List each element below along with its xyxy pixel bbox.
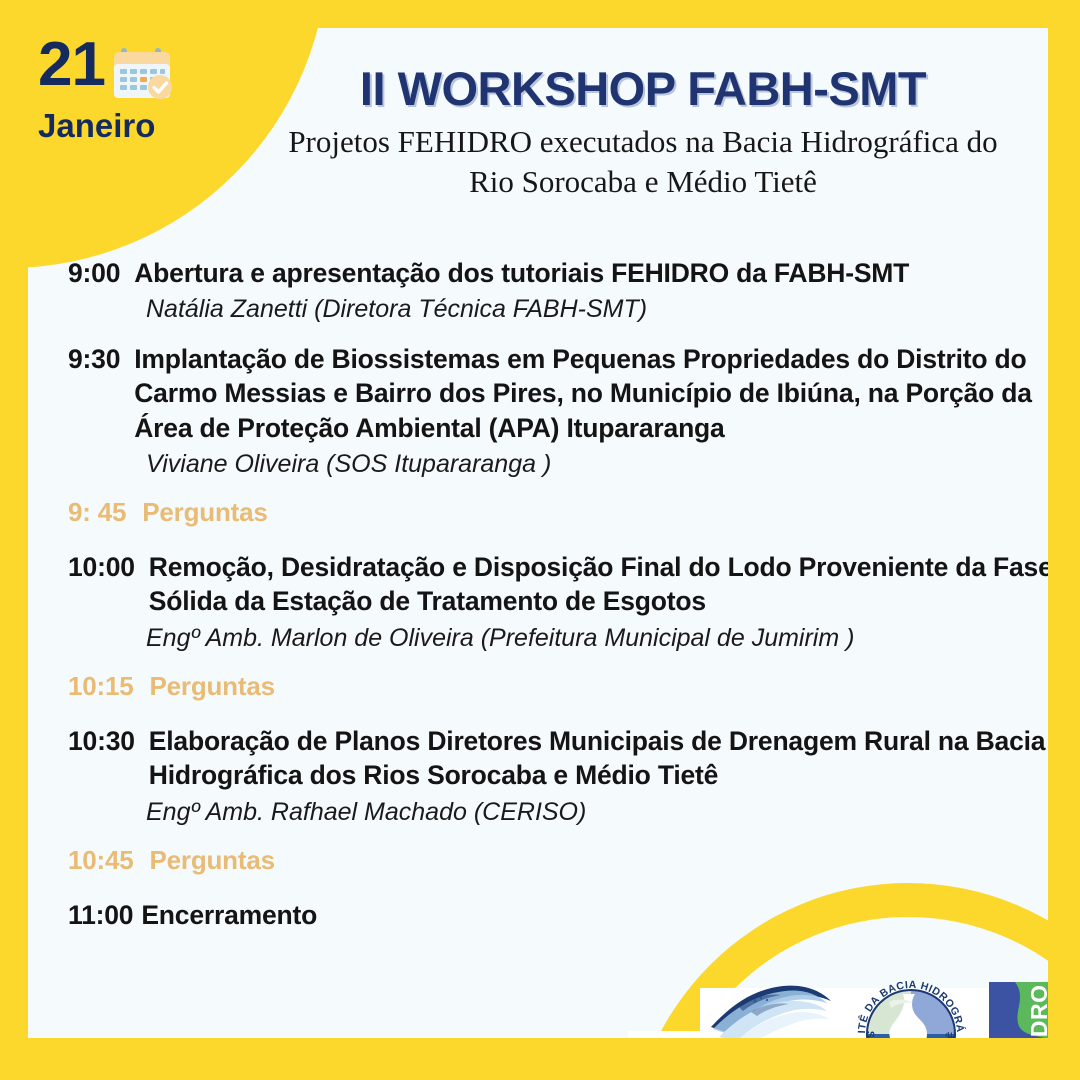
schedule-item-time: 9:30 — [68, 342, 134, 376]
schedule-item-main: 9:00Abertura e apresentação dos tutoriai… — [68, 256, 1048, 290]
content-card: II WORKSHOP FABH-SMT Projetos FEHIDRO ex… — [28, 28, 1048, 1038]
schedule-item: 10:00Remoção, Desidratação e Disposição … — [68, 550, 1048, 654]
schedule-item-main: 10:30Elaboração de Planos Diretores Muni… — [68, 724, 1048, 793]
water-basin-seal-icon: COMITÊ DA BACIA HIDROGRÁFICA SOROCABA-MÉ… — [849, 972, 973, 1038]
date-day: 21 — [38, 36, 105, 95]
header: II WORKSHOP FABH-SMT Projetos FEHIDRO ex… — [228, 64, 1048, 202]
schedule-item-main: 10:45Perguntas — [68, 844, 1048, 878]
logo-comite-bacia: COMITÊ DA BACIA HIDROGRÁFICA SOROCABA-MÉ… — [849, 972, 973, 1038]
page-subtitle: Projetos FEHIDRO executados na Bacia Hid… — [228, 122, 1048, 203]
date-badge: 21 — [38, 36, 228, 142]
schedule-list: 9:00Abertura e apresentação dos tutoriai… — [68, 256, 1048, 948]
schedule-item-time: 10:45 — [68, 844, 150, 878]
schedule-item-main: 9:30Implantação de Biossistemas em Peque… — [68, 342, 1048, 445]
schedule-item-time: 11:00 — [68, 898, 141, 932]
schedule-item-main: 10:15Perguntas — [68, 670, 1048, 704]
schedule-item-time: 10:30 — [68, 724, 149, 758]
schedule-item-title: Encerramento — [141, 898, 1048, 932]
schedule-item: 10:30Elaboração de Planos Diretores Muni… — [68, 724, 1048, 828]
schedule-item-time: 10:15 — [68, 670, 150, 704]
schedule-item: 9:00Abertura e apresentação dos tutoriai… — [68, 256, 1048, 326]
logo-fabh-smt: FABH-SMT Rio Sorocaba e Médio Tietê — [704, 979, 837, 1038]
schedule-item-speaker: Natália Zanetti (Diretora Técnica FABH-S… — [68, 294, 1048, 325]
page-title: II WORKSHOP FABH-SMT — [228, 64, 1048, 114]
schedule-item-title: Elaboração de Planos Diretores Municipai… — [149, 724, 1048, 793]
schedule-item: 9:30Implantação de Biossistemas em Peque… — [68, 342, 1048, 481]
calendar-check-icon — [111, 44, 173, 107]
schedule-item: 11:00Encerramento — [68, 898, 1048, 932]
poster-root: II WORKSHOP FABH-SMT Projetos FEHIDRO ex… — [0, 0, 1080, 1080]
schedule-item-speaker: Engº Amb. Marlon de Oliveira (Prefeitura… — [68, 623, 1048, 654]
logo-row: FABH-SMT Rio Sorocaba e Médio Tietê — [704, 966, 1048, 1038]
schedule-item-title: Perguntas — [150, 844, 1049, 878]
schedule-item-time: 9:00 — [68, 256, 134, 290]
schedule-item-title: Implantação de Biossistemas em Pequenas … — [134, 342, 1048, 445]
schedule-item-main: 11:00Encerramento — [68, 898, 1048, 932]
schedule-item-title: Remoção, Desidratação e Disposição Final… — [149, 550, 1048, 619]
schedule-item: 9: 45Perguntas — [68, 496, 1048, 530]
schedule-item-main: 9: 45Perguntas — [68, 496, 1048, 530]
fehidro-logo-icon: FEHIDRO — [985, 978, 1048, 1038]
river-wave-logo-icon — [705, 979, 837, 1038]
schedule-item-main: 10:00Remoção, Desidratação e Disposição … — [68, 550, 1048, 619]
schedule-item-title: Perguntas — [142, 496, 1048, 530]
schedule-item: 10:15Perguntas — [68, 670, 1048, 704]
schedule-item-time: 10:00 — [68, 550, 149, 584]
schedule-item-speaker: Viviane Oliveira (SOS Itupararanga ) — [68, 449, 1048, 480]
schedule-item: 10:45Perguntas — [68, 844, 1048, 878]
schedule-item-time: 9: 45 — [68, 496, 142, 530]
date-month: Janeiro — [38, 109, 228, 142]
schedule-item-title: Perguntas — [150, 670, 1049, 704]
schedule-item-speaker: Engº Amb. Rafhael Machado (CERISO) — [68, 797, 1048, 828]
fehidro-wordmark: FEHIDRO — [1026, 985, 1048, 1039]
logo-fehidro: FEHIDRO — [985, 978, 1048, 1038]
schedule-item-title: Abertura e apresentação dos tutoriais FE… — [134, 256, 1048, 290]
